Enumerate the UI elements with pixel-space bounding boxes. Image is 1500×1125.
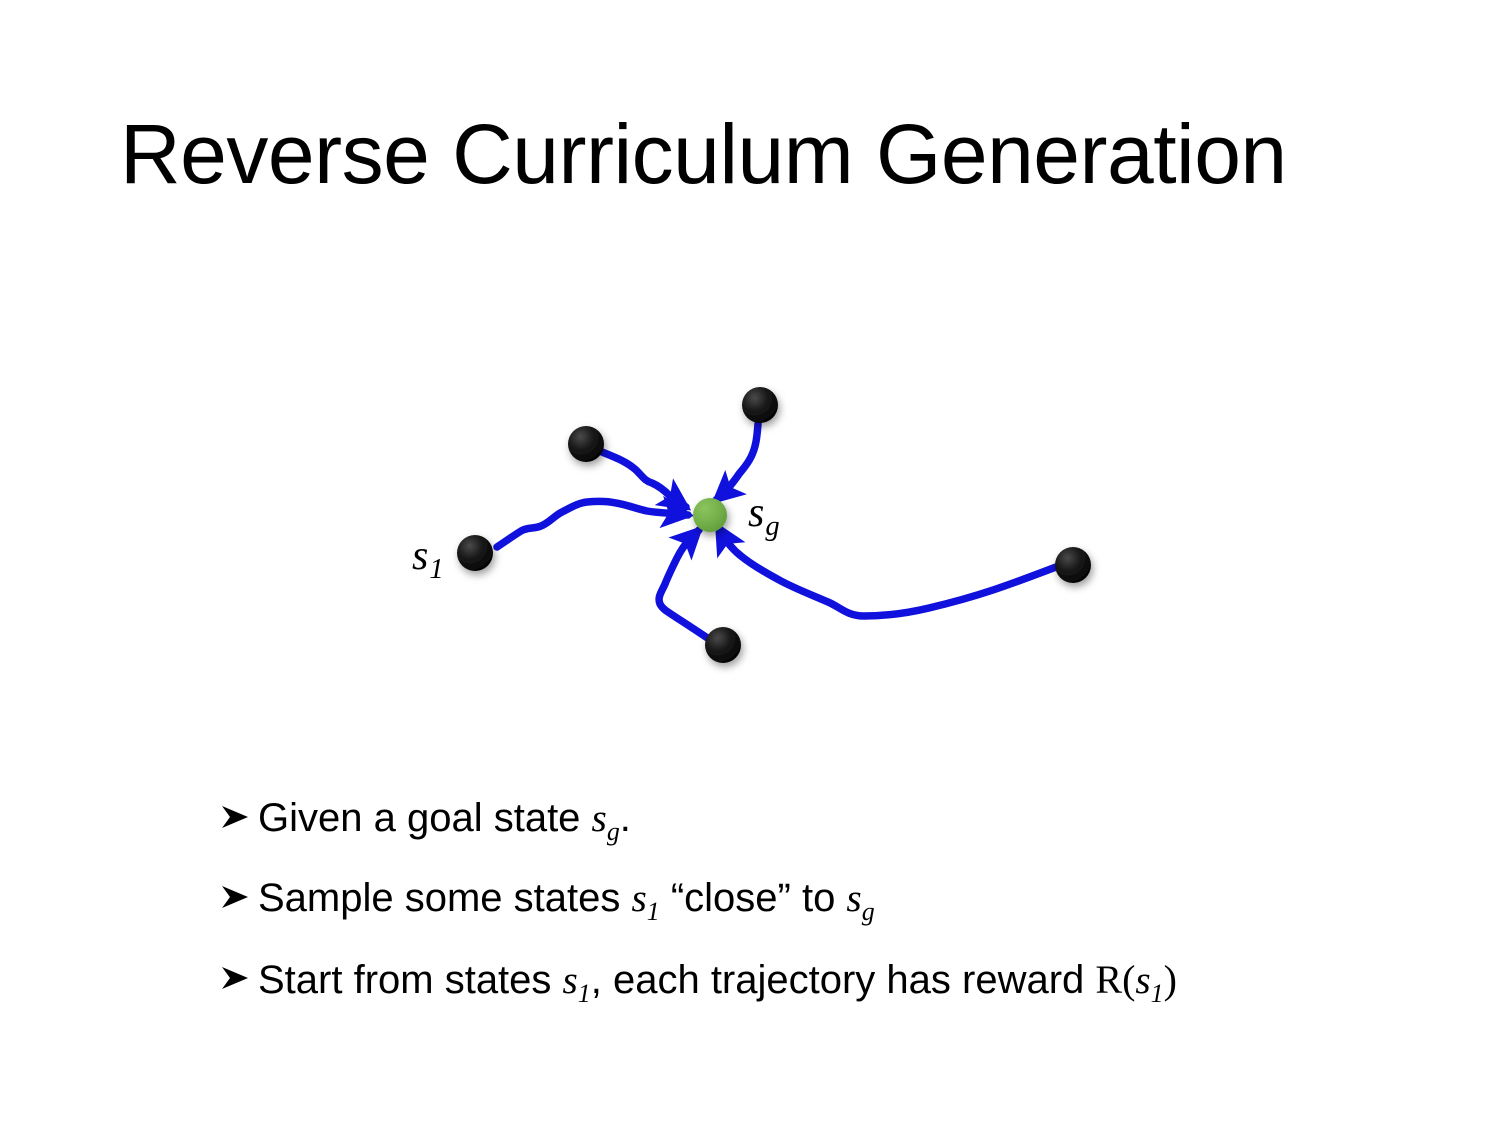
arrowhead-bullet-icon <box>218 958 256 998</box>
arrowhead-bullet-icon <box>218 877 256 917</box>
trajectory-from-s1 <box>497 501 688 547</box>
slide-canvas: Reverse Curriculum Generation <box>0 0 1500 1125</box>
goal-label-subscript: g <box>765 511 779 542</box>
bullet-text-2: Start from states s1, each trajectory ha… <box>258 956 1177 1009</box>
state-node-upper-left <box>568 426 604 462</box>
start-node-s1 <box>457 535 493 571</box>
trajectory-from-top <box>716 424 758 500</box>
page-title: Reverse Curriculum Generation <box>120 112 1390 196</box>
goal-node-label: sg <box>748 492 780 542</box>
start-label-subscript: 1 <box>429 554 443 585</box>
bullet-text-1: Sample some states s1 “close” to sg <box>258 875 875 927</box>
start-label-base: s <box>412 533 428 579</box>
list-item: Sample some states s1 “close” to sg <box>218 875 1418 927</box>
trajectory-from-bottom <box>659 530 712 641</box>
trajectory-from-upper-left <box>602 452 686 507</box>
bullet-text-0: Given a goal state sg. <box>258 795 631 847</box>
arrowhead-bullet-icon <box>218 797 256 837</box>
bullet-list: Given a goal state sg. Sample some state… <box>218 795 1418 1037</box>
state-node-top <box>742 387 778 423</box>
list-item: Given a goal state sg. <box>218 795 1418 847</box>
start-node-label: s1 <box>412 535 444 585</box>
goal-label-base: s <box>748 490 764 536</box>
state-node-right <box>1055 547 1091 583</box>
list-item: Start from states s1, each trajectory ha… <box>218 956 1418 1009</box>
goal-node-sg <box>693 498 727 532</box>
state-node-bottom <box>705 627 741 663</box>
